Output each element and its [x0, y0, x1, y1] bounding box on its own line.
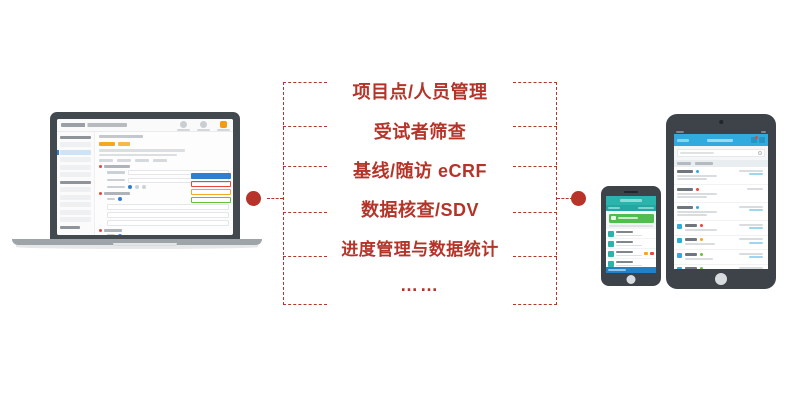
list-item-subtitle: [616, 235, 642, 237]
laptop-screen: [57, 119, 233, 235]
status-flag-icon: [700, 253, 703, 256]
list-item-title: [616, 261, 633, 263]
tablet-filter-bar[interactable]: [674, 160, 768, 167]
phone-footer-label: [608, 269, 626, 271]
list-item-content: [616, 241, 654, 246]
approve-button[interactable]: [191, 197, 231, 203]
status-flag-icon: [696, 170, 699, 173]
diagram-canvas: 项目点/人员管理 受试者筛查 基线/随访 eCRF 数据核查/SDV 进度管理与…: [0, 0, 800, 400]
row-title: [685, 224, 697, 227]
status-flag-icon: [700, 238, 703, 241]
status-flag-icon: [700, 224, 703, 227]
radio-selected-icon[interactable]: [118, 197, 122, 201]
feature-item-baseline-followup-ecrf: 基线/随访 eCRF: [283, 157, 557, 183]
list-item-title: [616, 231, 633, 233]
row-meta: [739, 267, 765, 269]
form-section-title: [104, 192, 130, 195]
textarea-field[interactable]: [107, 212, 229, 218]
status-flag-icon: [696, 206, 699, 209]
radio-selected-icon[interactable]: [128, 185, 132, 189]
phone-app-header: [606, 196, 656, 205]
laptop-base: [12, 239, 262, 255]
sidebar-item[interactable]: [60, 217, 91, 222]
row-checkbox[interactable]: [677, 267, 682, 269]
laptop-device: [12, 112, 262, 272]
tab-item[interactable]: [608, 207, 620, 209]
tablet-app-header: [674, 134, 768, 146]
laptop-sidebar-group-1: [60, 136, 91, 177]
phone-device: [601, 186, 661, 286]
row-checkbox[interactable]: [677, 224, 682, 229]
plus-icon: [611, 216, 616, 220]
laptop-sidebar-group-title-1: [60, 136, 91, 139]
table-row[interactable]: [674, 167, 768, 185]
row-header: [685, 224, 736, 227]
phone-primary-action-button[interactable]: [609, 214, 654, 223]
row-meta: [739, 170, 765, 176]
tablet-subject-list[interactable]: [674, 167, 768, 269]
row-content: [685, 253, 736, 262]
laptop-lid: [50, 112, 240, 244]
tab-item[interactable]: [153, 159, 167, 162]
row-timestamp: [739, 238, 763, 240]
laptop-app-title: [61, 123, 127, 127]
row-header: [685, 238, 736, 241]
row-content: [677, 170, 736, 182]
form-icon: [608, 261, 614, 267]
feature-item-subject-screening: 受试者筛查: [283, 118, 557, 144]
row-subtitle: [677, 214, 707, 216]
record-status-row: [99, 142, 229, 146]
status-tag-alert: [650, 252, 654, 255]
tablet-screen: [674, 129, 768, 269]
user-icon: [220, 121, 227, 128]
form-tabs[interactable]: [99, 159, 229, 162]
row-content: [677, 206, 736, 218]
breadcrumb: [99, 135, 143, 138]
phone-tab-bar[interactable]: [606, 205, 656, 211]
form-field-radio[interactable]: [99, 234, 229, 236]
tablet-search-input[interactable]: [677, 149, 765, 157]
row-link[interactable]: [749, 209, 763, 211]
required-marker-icon: [99, 192, 102, 195]
phone-app-title: [620, 199, 642, 202]
notification-badge: [755, 136, 758, 139]
field-label: [107, 234, 115, 235]
sdv-button[interactable]: [191, 189, 231, 195]
sidebar-item[interactable]: [60, 172, 91, 177]
laptop-header-action-1[interactable]: [177, 121, 190, 131]
laptop-app-header: [57, 119, 233, 132]
tablet-device: [666, 114, 776, 289]
row-timestamp: [739, 206, 763, 208]
radio-icon[interactable]: [142, 185, 146, 189]
row-meta: [739, 238, 765, 244]
sidebar-item[interactable]: [60, 210, 91, 215]
laptop-header-actions: [177, 121, 230, 131]
row-subtitle: [685, 243, 715, 245]
mobile-connector-dot: [571, 191, 586, 206]
cloud-icon: [180, 121, 187, 128]
laptop-action-label-1: [177, 129, 190, 131]
list-item-content: [616, 231, 654, 236]
tablet-header-icons: [751, 137, 765, 143]
list-item[interactable]: [606, 229, 656, 239]
row-subtitle: [685, 229, 717, 231]
row-subtitle: [677, 175, 717, 177]
laptop-header-action-3[interactable]: [217, 121, 230, 131]
table-row[interactable]: [674, 236, 768, 251]
list-item-subtitle: [616, 255, 642, 257]
sidebar-item[interactable]: [60, 142, 91, 147]
row-content: [685, 267, 736, 269]
list-item-content: [616, 261, 654, 266]
row-link[interactable]: [749, 227, 763, 229]
list-item-subtitle: [616, 265, 642, 267]
phone-button-label: [618, 217, 638, 220]
list-item-subtitle: [616, 245, 642, 247]
row-timestamp: [747, 188, 763, 190]
laptop-action-label-2: [197, 129, 210, 131]
field-label: [107, 171, 125, 174]
form-icon: [608, 231, 614, 237]
home-button[interactable]: [627, 275, 636, 284]
row-header: [685, 253, 736, 256]
form-section-title: [104, 229, 122, 232]
status-flag-icon: [696, 188, 699, 191]
row-timestamp: [739, 253, 763, 255]
required-marker-icon: [99, 165, 102, 168]
laptop-sidebar-group-2: [60, 181, 91, 222]
gear-icon: [200, 121, 207, 128]
row-link[interactable]: [749, 256, 763, 258]
row-subtitle: [685, 258, 713, 260]
table-row[interactable]: [674, 203, 768, 221]
sidebar-item[interactable]: [60, 202, 91, 207]
table-row[interactable]: [674, 250, 768, 265]
phone-hint-text: [609, 225, 653, 227]
query-button[interactable]: [191, 181, 231, 187]
row-subtitle: [677, 178, 707, 180]
sidebar-item[interactable]: [60, 157, 91, 162]
row-content: [677, 188, 736, 200]
field-label: [107, 186, 125, 189]
tab-item[interactable]: [638, 207, 654, 209]
home-button[interactable]: [715, 273, 727, 285]
row-subtitle: [677, 196, 707, 198]
grid-icon[interactable]: [759, 137, 765, 143]
tab-item[interactable]: [99, 159, 113, 162]
form-icon: [608, 241, 614, 247]
form-icon: [608, 251, 614, 257]
list-item[interactable]: [606, 239, 656, 249]
radio-icon[interactable]: [135, 185, 139, 189]
desktop-connector-dot: [246, 191, 261, 206]
search-placeholder: [680, 152, 714, 155]
row-meta: [739, 224, 765, 230]
row-checkbox[interactable]: [677, 253, 682, 258]
tablet-menu-icon[interactable]: [677, 139, 689, 142]
row-title: [677, 170, 693, 173]
phone-footer-bar[interactable]: [606, 267, 656, 273]
list-item-content: [616, 251, 642, 256]
sidebar-item[interactable]: [60, 187, 91, 192]
table-row[interactable]: [674, 221, 768, 236]
desktop-connector-line: [267, 198, 283, 199]
row-checkbox[interactable]: [677, 238, 682, 243]
bell-icon[interactable]: [751, 137, 757, 143]
laptop-sidebar-group-title-3: [60, 226, 80, 229]
battery-icon: [761, 131, 766, 133]
list-item-title: [616, 251, 633, 253]
laptop-action-label-3: [217, 129, 230, 131]
feature-item-progress-management-statistics: 进度管理与数据统计: [283, 235, 557, 260]
table-row[interactable]: [674, 265, 768, 270]
phone-screen: [606, 196, 656, 273]
row-header: [685, 267, 736, 269]
laptop-sidebar-group-title-2: [60, 181, 91, 184]
row-meta: [739, 206, 765, 212]
laptop-header-action-2[interactable]: [197, 121, 210, 131]
field-label: [107, 179, 125, 182]
camera-icon: [719, 120, 723, 124]
record-meta-line: [99, 149, 185, 152]
sidebar-item[interactable]: [60, 195, 91, 200]
form-section-header: [99, 229, 229, 232]
status-tag: [644, 252, 648, 255]
record-meta-line: [99, 154, 177, 157]
mobile-connector-line: [557, 198, 573, 199]
feature-label-list: 项目点/人员管理 受试者筛查 基线/随访 eCRF 数据核查/SDV 进度管理与…: [283, 82, 557, 305]
sidebar-item[interactable]: [60, 165, 91, 170]
tab-item[interactable]: [117, 159, 131, 162]
status-badge-secondary: [118, 142, 130, 146]
search-icon: [758, 151, 762, 155]
row-title: [685, 267, 697, 269]
radio-selected-icon[interactable]: [118, 234, 122, 236]
row-title: [677, 206, 693, 209]
tab-item[interactable]: [135, 159, 149, 162]
list-item-title: [616, 241, 633, 243]
laptop-side-actions: [191, 173, 231, 205]
status-flag-icon: [700, 267, 703, 269]
row-timestamp: [739, 267, 763, 269]
tablet-app-title: [707, 139, 733, 142]
save-button[interactable]: [191, 173, 231, 179]
required-marker-icon: [99, 229, 102, 232]
laptop-content-area: [95, 132, 233, 235]
form-section-title: [104, 165, 130, 168]
row-title: [677, 188, 693, 191]
filter-item[interactable]: [677, 162, 691, 165]
feature-item-ellipsis: ……: [283, 275, 557, 296]
laptop-shadow: [16, 245, 258, 249]
row-title: [685, 238, 697, 241]
filter-item[interactable]: [695, 162, 713, 165]
feature-item-site-staff-management: 项目点/人员管理: [283, 78, 557, 104]
carrier-icon: [676, 131, 684, 133]
row-subtitle: [677, 211, 717, 213]
speaker-icon: [624, 191, 638, 193]
row-title: [685, 253, 697, 256]
row-content: [685, 238, 736, 247]
row-timestamp: [739, 170, 763, 172]
field-label: [107, 198, 115, 201]
laptop-sidebar[interactable]: [57, 132, 95, 235]
row-content: [685, 224, 736, 233]
row-link[interactable]: [749, 242, 763, 244]
row-header: [677, 206, 736, 209]
row-link[interactable]: [749, 173, 763, 175]
row-meta: [739, 188, 765, 192]
row-meta: [739, 253, 765, 259]
table-row[interactable]: [674, 185, 768, 203]
form-section-header: [99, 165, 229, 168]
list-item[interactable]: [606, 249, 656, 259]
row-header: [677, 188, 736, 191]
row-subtitle: [677, 193, 717, 195]
row-header: [677, 170, 736, 173]
feature-item-data-review-sdv: 数据核查/SDV: [283, 196, 557, 222]
sidebar-item-active[interactable]: [60, 150, 91, 155]
row-timestamp: [739, 224, 763, 226]
status-badge: [99, 142, 115, 146]
textarea-field[interactable]: [107, 220, 229, 226]
